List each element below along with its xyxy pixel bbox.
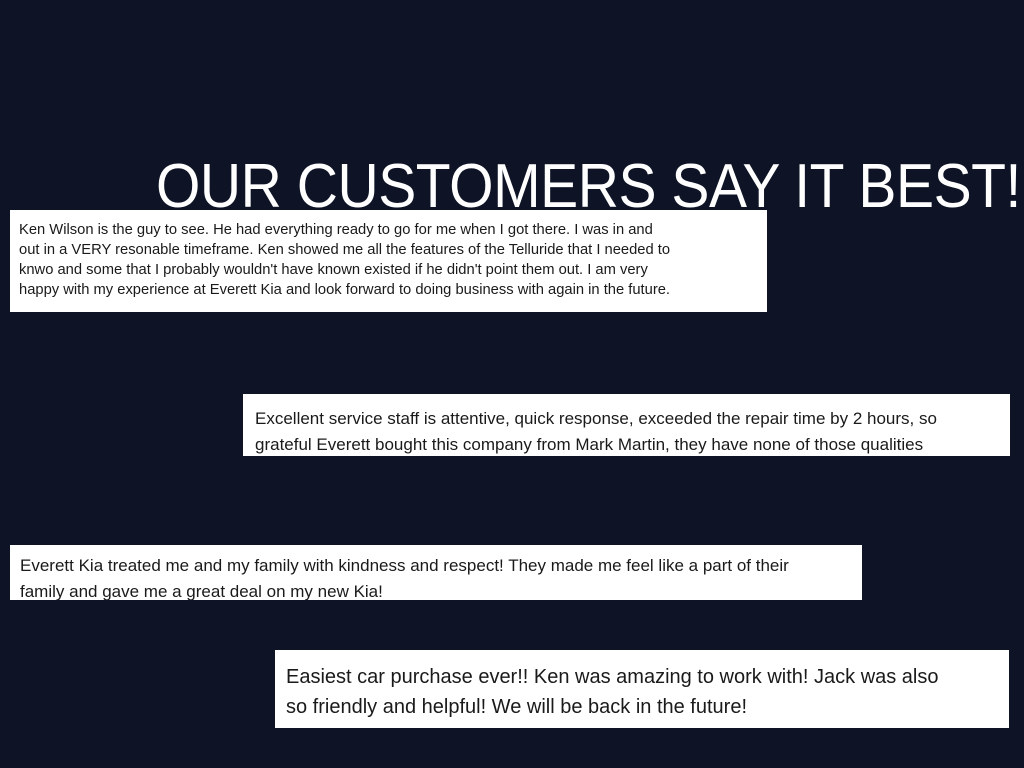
testimonial-text: Everett Kia treated me and my family wit… bbox=[20, 553, 854, 600]
testimonial-card: Everett Kia treated me and my family wit… bbox=[10, 545, 862, 600]
testimonial-card: Excellent service staff is attentive, qu… bbox=[243, 394, 1010, 456]
testimonial-card: Ken Wilson is the guy to see. He had eve… bbox=[10, 210, 767, 312]
testimonial-text: Excellent service staff is attentive, qu… bbox=[255, 406, 1000, 456]
testimonial-card: Easiest car purchase ever!! Ken was amaz… bbox=[275, 650, 1009, 728]
presentation-slide: OUR CUSTOMERS SAY IT BEST! Ken Wilson is… bbox=[0, 0, 1024, 768]
testimonial-text: Easiest car purchase ever!! Ken was amaz… bbox=[286, 662, 999, 722]
testimonial-text: Ken Wilson is the guy to see. He had eve… bbox=[19, 220, 737, 300]
